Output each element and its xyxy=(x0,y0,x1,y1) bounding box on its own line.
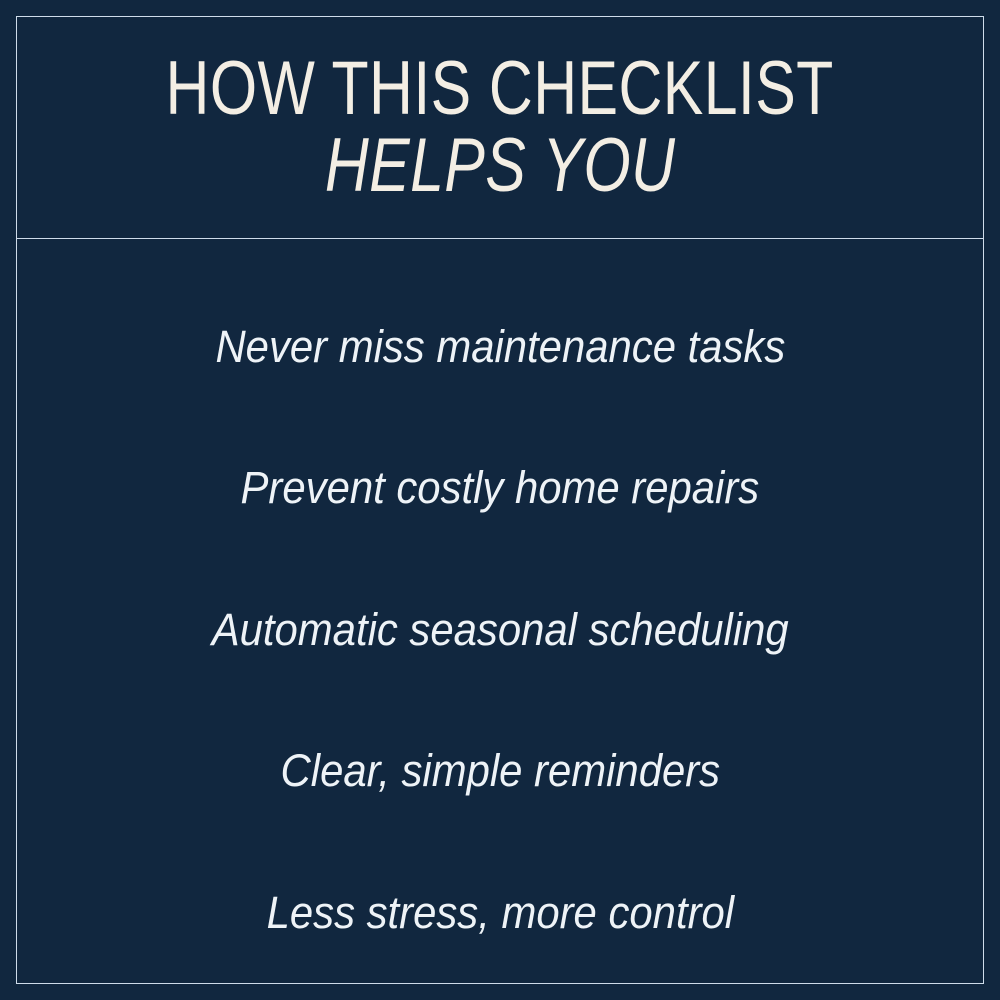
poster-card: HOW THIS CHECKLIST HELPS YOU Never miss … xyxy=(0,0,1000,1000)
list-item: Never miss maintenance tasks xyxy=(215,276,785,417)
list-item: Prevent costly home repairs xyxy=(241,417,760,558)
page-title-line-1: HOW THIS CHECKLIST xyxy=(166,53,834,126)
list-item: Clear, simple reminders xyxy=(280,700,720,841)
header-section: HOW THIS CHECKLIST HELPS YOU xyxy=(17,17,983,239)
page-title-line-2: HELPS YOU xyxy=(325,130,676,203)
benefits-list: Never miss maintenance tasks Prevent cos… xyxy=(17,240,983,983)
list-item: Automatic seasonal scheduling xyxy=(212,559,789,700)
list-item: Less stress, more control xyxy=(266,842,733,983)
